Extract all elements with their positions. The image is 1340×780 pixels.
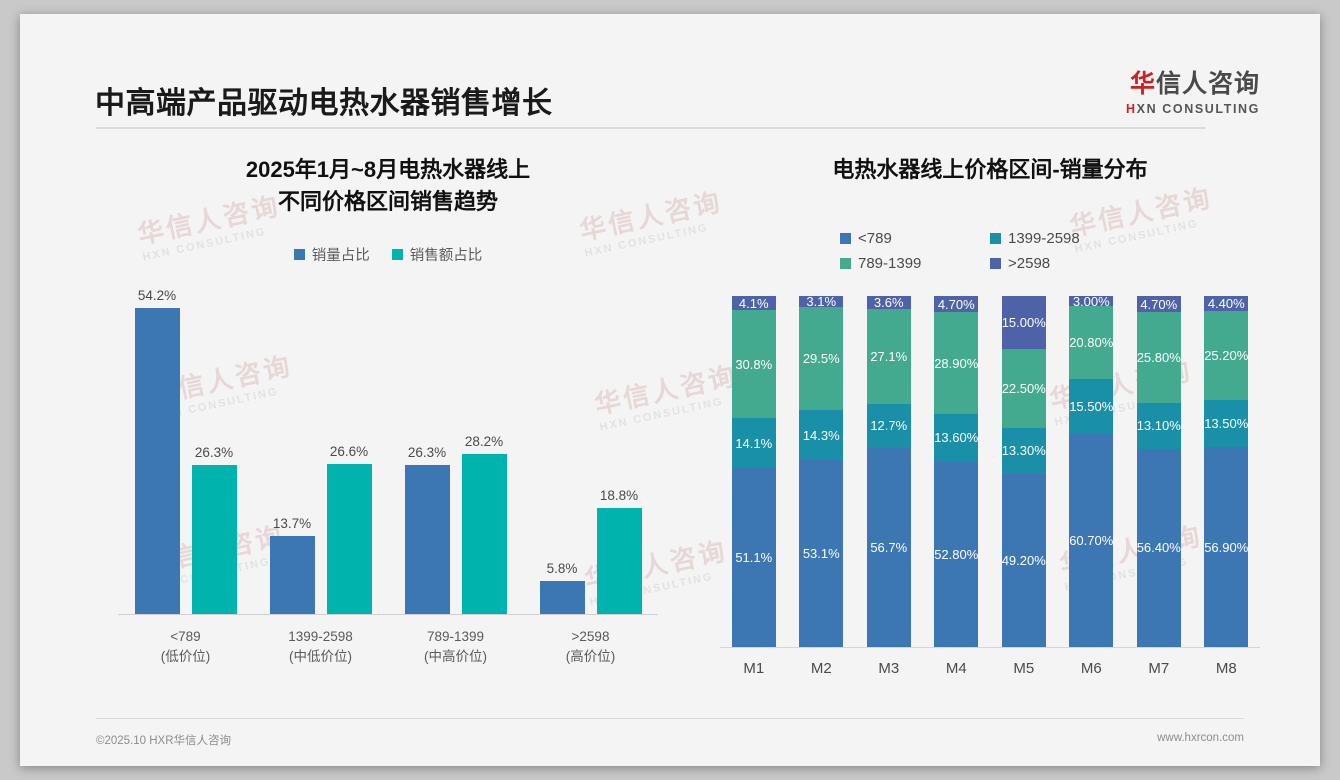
segment-value-label: 4.1% — [739, 296, 769, 310]
segment-value-label: 49.20% — [1002, 553, 1046, 568]
stacked-column: 4.1%30.8%14.1%51.1% — [720, 296, 788, 647]
stack-segment-789-1399[interactable]: 30.8% — [732, 310, 776, 418]
stack-segment-2598[interactable]: 4.70% — [934, 296, 978, 312]
legend-item-label: 销售额占比 — [410, 244, 483, 265]
stack-segment-2598[interactable]: 3.00% — [1069, 296, 1113, 307]
bar-group: 5.8%18.8% — [523, 275, 658, 614]
legend-item-label: <789 — [858, 230, 892, 247]
stack-segment-1399-2598[interactable]: 14.3% — [799, 410, 843, 460]
legend-item-label: >2598 — [1008, 255, 1050, 272]
segment-value-label: 12.7% — [870, 418, 907, 433]
segment-value-label: 14.1% — [735, 436, 772, 451]
segment-value-label: 14.3% — [803, 428, 840, 443]
logo-en-h: H — [1126, 102, 1137, 116]
footer-divider — [96, 718, 1244, 719]
stacked-bar-m6[interactable]: 3.00%20.80%15.50%60.70% — [1069, 296, 1113, 647]
segment-value-label: 25.20% — [1204, 348, 1248, 363]
stack-segment-789[interactable]: 51.1% — [732, 468, 776, 647]
stack-segment-2598[interactable]: 3.1% — [799, 296, 843, 307]
stack-segment-789[interactable]: 56.7% — [867, 448, 911, 647]
stacked-column: 4.40%25.20%13.50%56.90% — [1193, 296, 1261, 647]
legend-item-item[interactable]: 销售额占比 — [392, 244, 483, 265]
stack-segment-1399-2598[interactable]: 14.1% — [732, 418, 776, 467]
legend-swatch-icon — [392, 249, 403, 260]
bar-item[interactable]: 28.2% — [462, 275, 507, 614]
stack-segment-789-1399[interactable]: 25.20% — [1204, 311, 1248, 399]
chart-title-sales-trend: 2025年1月~8月电热水器线上 不同价格区间销售趋势 — [78, 154, 698, 218]
segment-value-label: 60.70% — [1069, 533, 1113, 548]
stack-segment-1399-2598[interactable]: 13.30% — [1002, 428, 1046, 475]
logo-chars-rest: 信人咨询 — [1156, 70, 1260, 98]
bar-group: 13.7%26.6% — [253, 275, 388, 614]
x-axis-label: M7 — [1125, 660, 1193, 677]
x-axis-line — [720, 647, 1260, 648]
segment-value-label: 15.50% — [1069, 399, 1113, 414]
legend-sales-trend: 销量占比销售额占比 — [78, 244, 698, 265]
page-title: 中高端产品驱动电热水器销售增长 — [95, 78, 553, 122]
brand-logo: 华信人咨询 HXN CONSULTING — [1126, 72, 1260, 116]
bar-value-label: 26.3% — [195, 445, 233, 460]
stack-segment-789-1399[interactable]: 27.1% — [867, 309, 911, 404]
segment-value-label: 22.50% — [1002, 381, 1046, 396]
legend-swatch-icon — [990, 258, 1001, 269]
footer-copyright: ©2025.10 HXR华信人咨询 — [96, 732, 231, 748]
bar-value-label: 26.6% — [330, 444, 368, 459]
bar-value-label: 5.8% — [547, 561, 578, 576]
legend-item-789-1399[interactable]: 789-1399 — [840, 255, 990, 272]
x-axis-labels: <789 (低价位)1399-2598 (中低价位)789-1399 (中高价位… — [118, 627, 658, 668]
segment-value-label: 13.10% — [1137, 418, 1181, 433]
x-axis-label: <789 (低价位) — [118, 627, 253, 668]
stacked-column: 4.70%28.90%13.60%52.80% — [923, 296, 991, 647]
stacked-bar-m4[interactable]: 4.70%28.90%13.60%52.80% — [934, 296, 978, 647]
header-divider — [96, 127, 1206, 129]
logo-english: HXN CONSULTING — [1126, 102, 1260, 116]
legend-item-label: 1399-2598 — [1008, 230, 1080, 247]
stacked-bar-m2[interactable]: 3.1%29.5%14.3%53.1% — [799, 296, 843, 647]
stacked-bar-m7[interactable]: 4.70%25.80%13.10%56.40% — [1137, 296, 1181, 647]
legend-swatch-icon — [990, 233, 1001, 244]
stacked-bar-m3[interactable]: 3.6%27.1%12.7%56.7% — [867, 296, 911, 647]
stack-segment-789[interactable]: 56.40% — [1137, 449, 1181, 647]
bar-item[interactable]: 18.8% — [597, 275, 642, 614]
bar-rect — [192, 465, 237, 614]
segment-value-label: 52.80% — [934, 547, 978, 562]
segment-value-label: 56.40% — [1137, 540, 1181, 555]
segment-value-label: 3.00% — [1073, 296, 1110, 307]
legend-item-789[interactable]: <789 — [840, 230, 990, 247]
stack-segment-2598[interactable]: 4.1% — [732, 296, 776, 310]
bar-rect — [462, 454, 507, 613]
x-axis-line — [118, 614, 658, 615]
bar-groups: 54.2%26.3%13.7%26.6%26.3%28.2%5.8%18.8% — [118, 275, 658, 614]
grouped-bar-plot: 54.2%26.3%13.7%26.6%26.3%28.2%5.8%18.8% … — [118, 275, 658, 615]
stacked-bar-m5[interactable]: 15.00%22.50%13.30%49.20% — [1002, 296, 1046, 647]
segment-value-label: 20.80% — [1069, 335, 1113, 350]
x-axis-label: >2598 (高价位) — [523, 627, 658, 668]
slide-header: 中高端产品驱动电热水器销售增长 华信人咨询 HXN CONSULTING — [20, 14, 1320, 134]
stack-segment-789-1399[interactable]: 25.80% — [1137, 312, 1181, 403]
chart-panel-sales-trend: 2025年1月~8月电热水器线上 不同价格区间销售趋势 销量占比销售额占比 54… — [78, 154, 698, 714]
segment-value-label: 27.1% — [870, 349, 907, 364]
bar-rect — [540, 581, 585, 614]
segment-value-label: 56.7% — [870, 540, 907, 555]
stacked-bar-plot: 4.1%30.8%14.1%51.1%3.1%29.5%14.3%53.1%3.… — [720, 296, 1260, 648]
segment-value-label: 4.70% — [938, 297, 975, 312]
segment-value-label: 4.40% — [1208, 296, 1245, 311]
legend-swatch-icon — [294, 249, 305, 260]
x-axis-label: 789-1399 (中高价位) — [388, 627, 523, 668]
segment-value-label: 25.80% — [1137, 350, 1181, 365]
bar-rect — [597, 508, 642, 614]
x-axis-label: M4 — [923, 660, 991, 677]
segment-value-label: 28.90% — [934, 356, 978, 371]
stack-segment-789[interactable]: 49.20% — [1002, 474, 1046, 647]
x-axis-label: M1 — [720, 660, 788, 677]
stacked-column: 3.6%27.1%12.7%56.7% — [855, 296, 923, 647]
stack-segment-789[interactable]: 52.80% — [934, 462, 978, 647]
segment-value-label: 3.6% — [874, 296, 904, 309]
stack-segment-789-1399[interactable]: 29.5% — [799, 307, 843, 411]
stacked-column: 15.00%22.50%13.30%49.20% — [990, 296, 1058, 647]
stacked-bar-m1[interactable]: 4.1%30.8%14.1%51.1% — [732, 296, 776, 647]
legend-volume-distribution: <7891399-2598789-1399>2598 — [710, 230, 1270, 272]
segment-value-label: 56.90% — [1204, 540, 1248, 555]
bar-item[interactable]: 26.3% — [405, 275, 450, 614]
stacked-column: 3.00%20.80%15.50%60.70% — [1058, 296, 1126, 647]
stack-segment-2598[interactable]: 15.00% — [1002, 296, 1046, 349]
segment-value-label: 53.1% — [803, 546, 840, 561]
bar-value-label: 26.3% — [408, 445, 446, 460]
stack-segment-2598[interactable]: 4.70% — [1137, 296, 1181, 312]
x-axis-label: 1399-2598 (中低价位) — [253, 627, 388, 668]
bar-value-label: 54.2% — [138, 288, 176, 303]
stack-segment-789-1399[interactable]: 22.50% — [1002, 349, 1046, 428]
logo-en-rest: XN CONSULTING — [1137, 102, 1260, 116]
legend-item-1399-2598[interactable]: 1399-2598 — [990, 230, 1140, 247]
stacked-bar-m8[interactable]: 4.40%25.20%13.50%56.90% — [1204, 296, 1248, 647]
stack-segment-789[interactable]: 53.1% — [799, 460, 843, 646]
logo-char-hua: 华 — [1130, 70, 1156, 98]
legend-item-label: 销量占比 — [312, 244, 370, 265]
footer-website: www.hxrcon.com — [1157, 732, 1244, 744]
bar-group: 26.3%28.2% — [388, 275, 523, 614]
segment-value-label: 13.60% — [934, 430, 978, 445]
slide: 中高端产品驱动电热水器销售增长 华信人咨询 HXN CONSULTING 华信人… — [20, 14, 1320, 766]
segment-value-label: 15.00% — [1002, 315, 1046, 330]
stacked-column: 3.1%29.5%14.3%53.1% — [788, 296, 856, 647]
bar-item[interactable]: 54.2% — [135, 275, 180, 614]
legend-swatch-icon — [840, 258, 851, 269]
bar-rect — [135, 308, 180, 614]
x-axis-label: M5 — [990, 660, 1058, 677]
bar-item[interactable]: 26.3% — [192, 275, 237, 614]
bar-group: 54.2%26.3% — [118, 275, 253, 614]
legend-item-item[interactable]: 销量占比 — [294, 244, 370, 265]
legend-item-label: 789-1399 — [858, 255, 921, 272]
segment-value-label: 30.8% — [735, 357, 772, 372]
stack-segment-2598[interactable]: 4.40% — [1204, 296, 1248, 311]
x-axis-label: M2 — [788, 660, 856, 677]
legend-item-2598[interactable]: >2598 — [990, 255, 1140, 272]
x-axis-label: M3 — [855, 660, 923, 677]
stacked-column: 4.70%25.80%13.10%56.40% — [1125, 296, 1193, 647]
stack-segment-1399-2598[interactable]: 12.7% — [867, 404, 911, 449]
bar-rect — [405, 465, 450, 614]
x-axis-label: M8 — [1193, 660, 1261, 677]
bar-value-label: 18.8% — [600, 488, 638, 503]
bar-rect — [327, 464, 372, 614]
bar-value-label: 13.7% — [273, 516, 311, 531]
segment-value-label: 13.50% — [1204, 416, 1248, 431]
stack-segment-789-1399[interactable]: 20.80% — [1069, 306, 1113, 379]
stack-segment-1399-2598[interactable]: 13.60% — [934, 414, 978, 462]
stack-segment-1399-2598[interactable]: 13.10% — [1137, 403, 1181, 449]
chart-title-volume-distribution: 电热水器线上价格区间-销量分布 — [710, 154, 1270, 186]
stack-segment-2598[interactable]: 3.6% — [867, 296, 911, 309]
segment-value-label: 51.1% — [735, 550, 772, 565]
bar-item[interactable]: 5.8% — [540, 275, 585, 614]
bar-item[interactable]: 26.6% — [327, 275, 372, 614]
stack-segment-789-1399[interactable]: 28.90% — [934, 312, 978, 413]
segment-value-label: 13.30% — [1002, 443, 1046, 458]
x-axis-labels: M1M2M3M4M5M6M7M8 — [720, 660, 1260, 677]
segment-value-label: 29.5% — [803, 351, 840, 366]
bar-rect — [270, 536, 315, 613]
x-axis-label: M6 — [1058, 660, 1126, 677]
legend-swatch-icon — [840, 233, 851, 244]
stack-segment-1399-2598[interactable]: 15.50% — [1069, 379, 1113, 433]
logo-chinese: 华信人咨询 — [1126, 72, 1260, 97]
bar-item[interactable]: 13.7% — [270, 275, 315, 614]
chart-panel-volume-distribution: 电热水器线上价格区间-销量分布 <7891399-2598789-1399>25… — [710, 154, 1270, 714]
bar-value-label: 28.2% — [465, 434, 503, 449]
segment-value-label: 4.70% — [1140, 297, 1177, 312]
stacked-columns: 4.1%30.8%14.1%51.1%3.1%29.5%14.3%53.1%3.… — [720, 296, 1260, 647]
segment-value-label: 3.1% — [806, 296, 836, 307]
stack-segment-1399-2598[interactable]: 13.50% — [1204, 400, 1248, 447]
stack-segment-789[interactable]: 56.90% — [1204, 447, 1248, 647]
stack-segment-789[interactable]: 60.70% — [1069, 434, 1113, 647]
